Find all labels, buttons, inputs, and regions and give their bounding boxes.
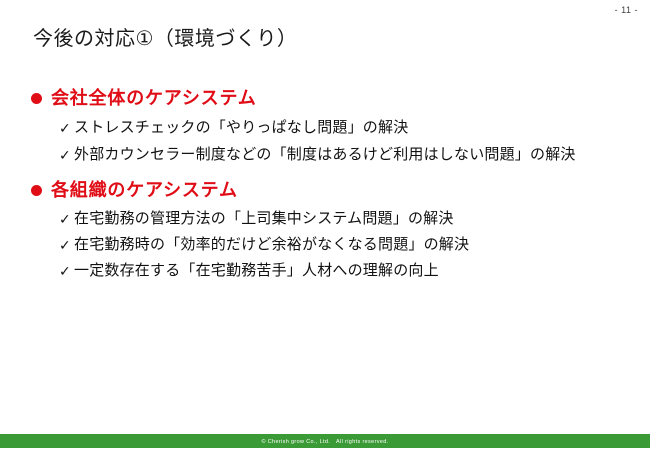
- check-icon: ✓: [59, 117, 74, 139]
- check-icon: ✓: [59, 234, 74, 256]
- presentation-slide: - 11 - 今後の対応①（環境づくり） 会社全体のケアシステム ✓ ストレスチ…: [0, 0, 650, 450]
- bullet-dot-icon: [31, 93, 42, 104]
- list-item-label: 外部カウンセラー制度などの「制度はあるけど利用はしない問題」の解決: [74, 144, 576, 166]
- list-item: ✓ 一定数存在する「在宅勤務苦手」人材への理解の向上: [0, 260, 650, 282]
- section-heading-row: 各組織のケアシステム: [0, 176, 650, 204]
- list-item-label: 在宅勤務の管理方法の「上司集中システム問題」の解決: [74, 208, 454, 230]
- section-heading-label: 会社全体のケアシステム: [51, 87, 257, 109]
- slide-body: 会社全体のケアシステム ✓ ストレスチェックの「やりっぱなし問題」の解決 ✓ 外…: [0, 84, 650, 284]
- page-title: 今後の対応①（環境づくり）: [33, 22, 297, 51]
- section-heading-label: 各組織のケアシステム: [51, 179, 238, 201]
- list-item: ✓ 在宅勤務の管理方法の「上司集中システム問題」の解決: [0, 208, 650, 230]
- bullet-section: 会社全体のケアシステム ✓ ストレスチェックの「やりっぱなし問題」の解決 ✓ 外…: [0, 84, 650, 166]
- list-item-label: ストレスチェックの「やりっぱなし問題」の解決: [74, 117, 408, 139]
- list-item-label: 一定数存在する「在宅勤務苦手」人材への理解の向上: [74, 260, 439, 282]
- list-item: ✓ 在宅勤務時の「効率的だけど余裕がなくなる問題」の解決: [0, 234, 650, 256]
- copyright-text: © Cherish grow Co., Ltd. All rights rese…: [261, 437, 388, 445]
- footer-bar: © Cherish grow Co., Ltd. All rights rese…: [0, 434, 650, 448]
- list-item-label: 在宅勤務時の「効率的だけど余裕がなくなる問題」の解決: [74, 234, 469, 256]
- list-item: ✓ 外部カウンセラー制度などの「制度はあるけど利用はしない問題」の解決: [0, 144, 650, 166]
- bullet-section: 各組織のケアシステム ✓ 在宅勤務の管理方法の「上司集中システム問題」の解決 ✓…: [0, 176, 650, 282]
- bullet-dot-icon: [31, 185, 42, 196]
- section-heading-row: 会社全体のケアシステム: [0, 84, 650, 112]
- list-item: ✓ ストレスチェックの「やりっぱなし問題」の解決: [0, 117, 650, 139]
- check-icon: ✓: [59, 144, 74, 166]
- page-number: - 11 -: [615, 4, 638, 16]
- check-icon: ✓: [59, 208, 74, 230]
- check-icon: ✓: [59, 260, 74, 282]
